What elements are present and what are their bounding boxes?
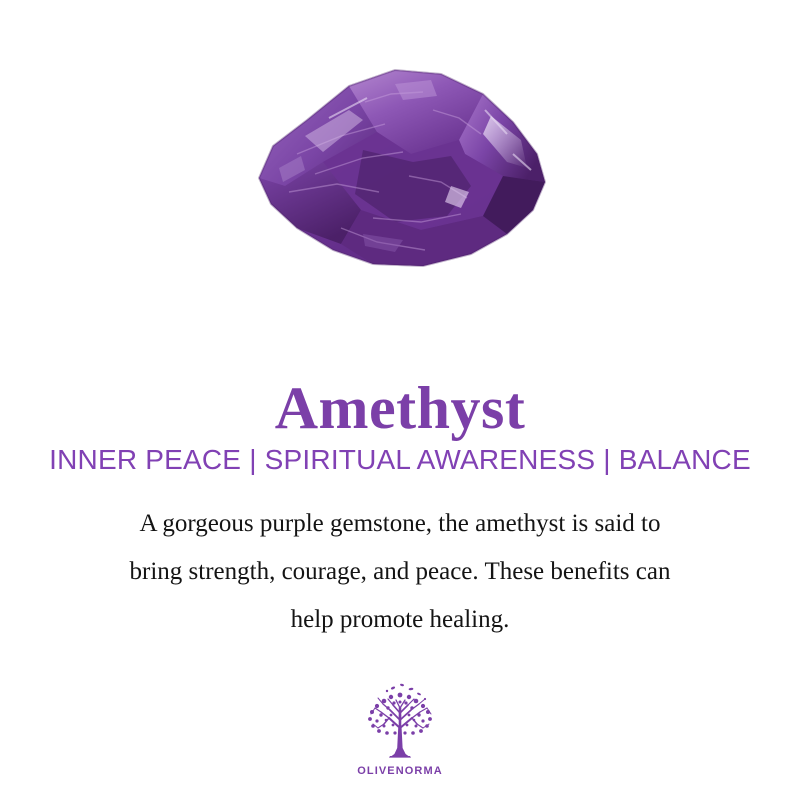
amethyst-crystal-image bbox=[245, 58, 555, 273]
description-line: help promote healing. bbox=[0, 596, 800, 644]
keyword-separator: | bbox=[241, 443, 264, 477]
keyword-list: INNER PEACE|SPIRITUAL AWARENESS|BALANCE bbox=[0, 443, 800, 477]
brand-name: OLIVENORMA bbox=[357, 765, 443, 777]
page-title: Amethyst bbox=[0, 376, 800, 441]
amethyst-info-card: Amethyst INNER PEACE|SPIRITUAL AWARENESS… bbox=[0, 0, 800, 800]
amethyst-crystal-illustration bbox=[245, 58, 555, 273]
brand-logo: OLIVENORMA bbox=[0, 682, 800, 777]
description-text: A gorgeous purple gemstone, the amethyst… bbox=[0, 500, 800, 644]
tree-icon bbox=[357, 682, 443, 762]
keyword-spiritual-awareness: SPIRITUAL AWARENESS bbox=[265, 444, 596, 475]
description-line: A gorgeous purple gemstone, the amethyst… bbox=[0, 500, 800, 548]
keyword-balance: BALANCE bbox=[619, 444, 751, 475]
keyword-inner-peace: INNER PEACE bbox=[49, 444, 241, 475]
description-line: bring strength, courage, and peace. Thes… bbox=[0, 548, 800, 596]
hero-image-area bbox=[0, 0, 800, 320]
keyword-separator: | bbox=[595, 443, 618, 477]
